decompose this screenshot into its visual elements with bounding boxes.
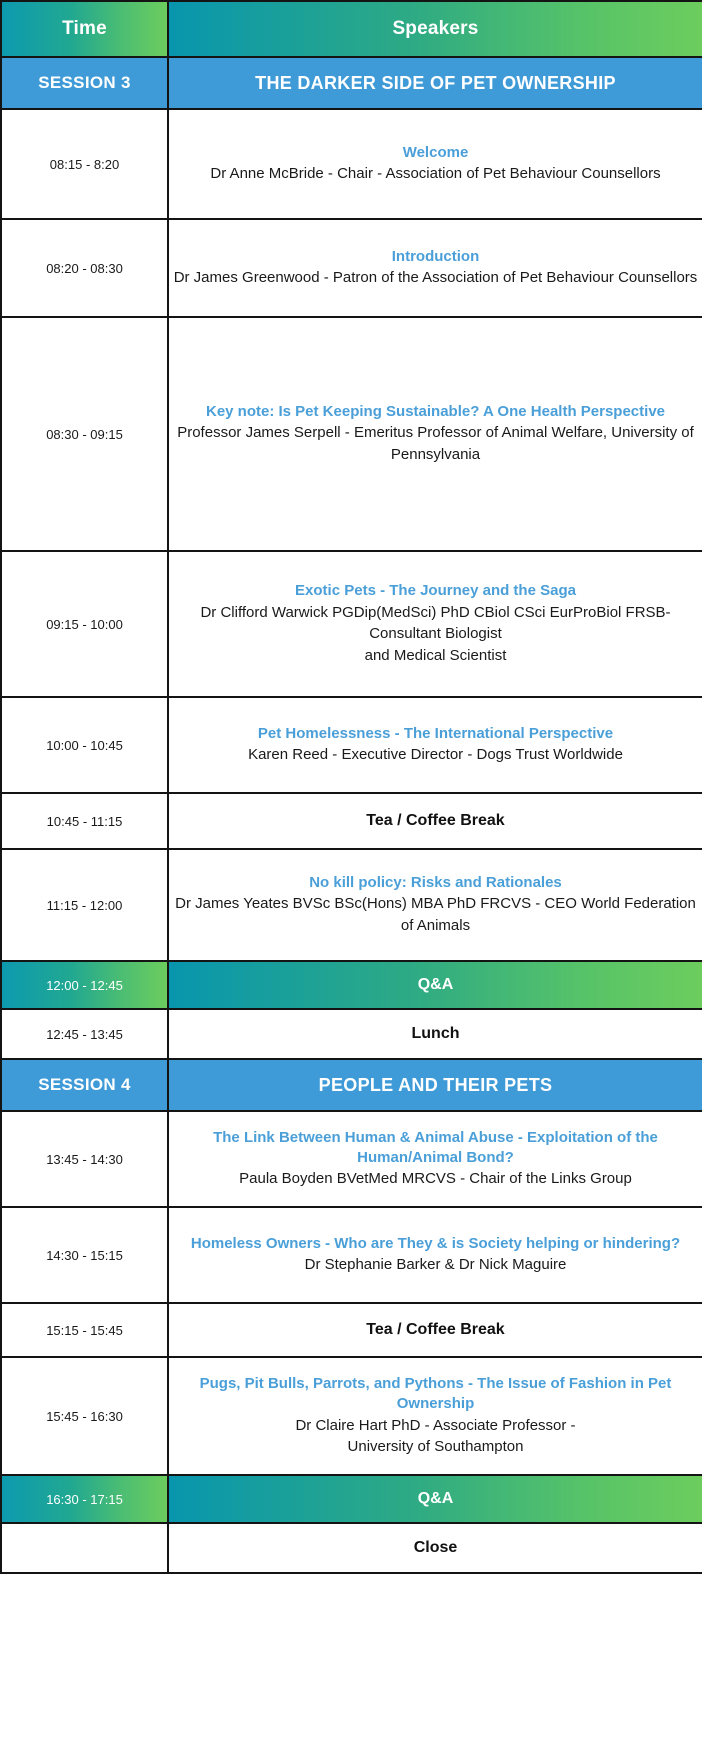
conference-schedule-table: Time Speakers SESSION 3THE DARKER SIDE O… bbox=[0, 0, 702, 1574]
table-row: 16:30 - 17:15Q&A bbox=[1, 1475, 702, 1523]
table-row: 12:45 - 13:45Lunch bbox=[1, 1009, 702, 1059]
row-content: Pet Homelessness - The International Per… bbox=[168, 697, 702, 793]
row-time: 12:00 - 12:45 bbox=[1, 961, 168, 1009]
row-talk-title: Welcome bbox=[169, 143, 702, 163]
row-time: 14:30 - 15:15 bbox=[1, 1207, 168, 1303]
session-title: PEOPLE AND THEIR PETS bbox=[168, 1059, 702, 1111]
row-time: 08:30 - 09:15 bbox=[1, 317, 168, 551]
session-label: SESSION 4 bbox=[1, 1059, 168, 1111]
row-time: 15:15 - 15:45 bbox=[1, 1303, 168, 1357]
row-talk-title: Pugs, Pit Bulls, Parrots, and Pythons - … bbox=[169, 1374, 702, 1415]
row-break-label: Tea / Coffee Break bbox=[169, 812, 702, 830]
table-row: 15:45 - 16:30Pugs, Pit Bulls, Parrots, a… bbox=[1, 1357, 702, 1475]
row-talk-title: Exotic Pets - The Journey and the Saga bbox=[169, 581, 702, 601]
row-content: WelcomeDr Anne McBride - Chair - Associa… bbox=[168, 109, 702, 219]
row-talk-detail: Dr James Yeates BVSc BSc(Hons) MBA PhD F… bbox=[169, 893, 702, 937]
row-talk-detail: Paula Boyden BVetMed MRCVS - Chair of th… bbox=[169, 1168, 702, 1190]
row-content: Homeless Owners - Who are They & is Soci… bbox=[168, 1207, 702, 1303]
row-content: Lunch bbox=[168, 1009, 702, 1059]
row-time: 10:00 - 10:45 bbox=[1, 697, 168, 793]
row-talk-title: Key note: Is Pet Keeping Sustainable? A … bbox=[169, 402, 702, 422]
row-talk-detail: Professor James Serpell - Emeritus Profe… bbox=[169, 422, 702, 466]
session-title: THE DARKER SIDE OF PET OWNERSHIP bbox=[168, 57, 702, 109]
table-row: 08:20 - 08:30IntroductionDr James Greenw… bbox=[1, 219, 702, 317]
table-row: 09:15 - 10:00Exotic Pets - The Journey a… bbox=[1, 551, 702, 697]
row-talk-detail: Dr James Greenwood - Patron of the Assoc… bbox=[169, 267, 702, 289]
session-label: SESSION 3 bbox=[1, 57, 168, 109]
row-content: Close bbox=[168, 1523, 702, 1573]
row-content: IntroductionDr James Greenwood - Patron … bbox=[168, 219, 702, 317]
row-talk-detail: Dr Anne McBride - Chair - Association of… bbox=[169, 163, 702, 185]
table-row: 13:45 - 14:30The Link Between Human & An… bbox=[1, 1111, 702, 1207]
row-break-label: Lunch bbox=[169, 1025, 702, 1043]
row-qa-label: Q&A bbox=[168, 961, 702, 1009]
row-time: 11:15 - 12:00 bbox=[1, 849, 168, 961]
row-time: 15:45 - 16:30 bbox=[1, 1357, 168, 1475]
row-content: Tea / Coffee Break bbox=[168, 1303, 702, 1357]
row-content: Key note: Is Pet Keeping Sustainable? A … bbox=[168, 317, 702, 551]
session-banner-row: SESSION 4PEOPLE AND THEIR PETS bbox=[1, 1059, 702, 1111]
row-time: 09:15 - 10:00 bbox=[1, 551, 168, 697]
row-content: Tea / Coffee Break bbox=[168, 793, 702, 849]
table-header: Time Speakers bbox=[1, 1, 702, 57]
row-content: Pugs, Pit Bulls, Parrots, and Pythons - … bbox=[168, 1357, 702, 1475]
row-talk-title: The Link Between Human & Animal Abuse - … bbox=[169, 1128, 702, 1169]
row-talk-detail: Karen Reed - Executive Director - Dogs T… bbox=[169, 744, 702, 766]
header-row: Time Speakers bbox=[1, 1, 702, 57]
row-content: The Link Between Human & Animal Abuse - … bbox=[168, 1111, 702, 1207]
row-talk-detail: Dr Claire Hart PhD - Associate Professor… bbox=[169, 1415, 702, 1459]
row-content: Exotic Pets - The Journey and the SagaDr… bbox=[168, 551, 702, 697]
session-banner-row: SESSION 3THE DARKER SIDE OF PET OWNERSHI… bbox=[1, 57, 702, 109]
row-talk-title: Introduction bbox=[169, 247, 702, 267]
table-row: Close bbox=[1, 1523, 702, 1573]
table-row: 12:00 - 12:45Q&A bbox=[1, 961, 702, 1009]
row-time: 08:15 - 8:20 bbox=[1, 109, 168, 219]
row-talk-title: No kill policy: Risks and Rationales bbox=[169, 873, 702, 893]
row-time: 08:20 - 08:30 bbox=[1, 219, 168, 317]
table-row: 11:15 - 12:00No kill policy: Risks and R… bbox=[1, 849, 702, 961]
row-talk-detail: Dr Clifford Warwick PGDip(MedSci) PhD CB… bbox=[169, 602, 702, 667]
row-break-label: Close bbox=[169, 1539, 702, 1557]
row-break-label: Tea / Coffee Break bbox=[169, 1321, 702, 1339]
table-row: 08:30 - 09:15Key note: Is Pet Keeping Su… bbox=[1, 317, 702, 551]
table-body: SESSION 3THE DARKER SIDE OF PET OWNERSHI… bbox=[1, 57, 702, 1573]
table-row: 10:45 - 11:15Tea / Coffee Break bbox=[1, 793, 702, 849]
row-content: No kill policy: Risks and RationalesDr J… bbox=[168, 849, 702, 961]
table-row: 15:15 - 15:45Tea / Coffee Break bbox=[1, 1303, 702, 1357]
column-header-time: Time bbox=[1, 1, 168, 57]
table-row: 14:30 - 15:15Homeless Owners - Who are T… bbox=[1, 1207, 702, 1303]
row-time: 13:45 - 14:30 bbox=[1, 1111, 168, 1207]
row-talk-detail: Dr Stephanie Barker & Dr Nick Maguire bbox=[169, 1254, 702, 1276]
row-time: 16:30 - 17:15 bbox=[1, 1475, 168, 1523]
row-time: 12:45 - 13:45 bbox=[1, 1009, 168, 1059]
table-row: 10:00 - 10:45Pet Homelessness - The Inte… bbox=[1, 697, 702, 793]
row-talk-title: Pet Homelessness - The International Per… bbox=[169, 724, 702, 744]
row-time: 10:45 - 11:15 bbox=[1, 793, 168, 849]
row-qa-label: Q&A bbox=[168, 1475, 702, 1523]
row-time bbox=[1, 1523, 168, 1573]
table-row: 08:15 - 8:20WelcomeDr Anne McBride - Cha… bbox=[1, 109, 702, 219]
row-talk-title: Homeless Owners - Who are They & is Soci… bbox=[169, 1234, 702, 1254]
column-header-speakers: Speakers bbox=[168, 1, 702, 57]
